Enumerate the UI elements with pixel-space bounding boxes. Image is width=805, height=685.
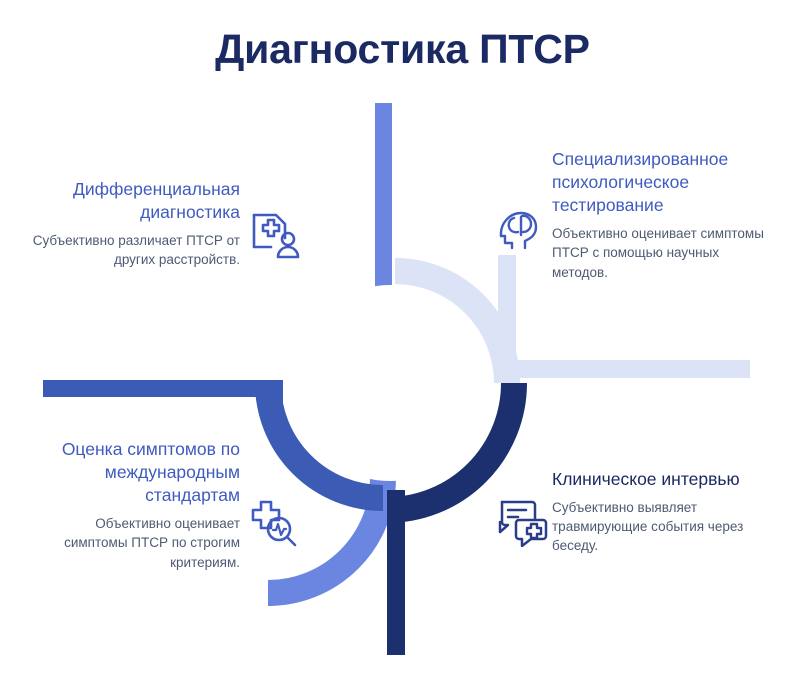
head-brain-icon — [497, 206, 543, 252]
connector-bottom-left-line — [43, 380, 283, 397]
quadrant-clinical-interview: Клиническое интервью Субъективно выявляе… — [552, 468, 764, 556]
cross-pulse-magnifier-icon — [248, 497, 302, 549]
chat-bubbles-cross-icon — [497, 497, 549, 547]
quadrant-body: Субъективно различает ПТСР от других рас… — [28, 231, 240, 269]
quadrant-international-standards: Оценка симптомов по международным станда… — [52, 438, 240, 572]
quadrant-heading: Клиническое интервью — [552, 468, 764, 491]
infographic-canvas: Диагностика ПТСР — [0, 0, 805, 685]
connector-bottom-left-joint — [266, 380, 283, 420]
quadrant-specialized-testing: Специализированное психологическое тести… — [552, 148, 767, 282]
quadrant-body: Объективно оценивает симптомы ПТСР по ст… — [52, 514, 240, 571]
quadrant-heading: Оценка симптомов по международным станда… — [52, 438, 240, 507]
document-cross-person-icon — [248, 211, 302, 261]
connector-bottom-right-stem — [387, 490, 405, 655]
connector-top-left-stem — [375, 103, 392, 293]
quadrant-differential-diagnosis: Дифференциальная диагностика Субъективно… — [28, 178, 240, 270]
quadrant-heading: Специализированное психологическое тести… — [552, 148, 767, 217]
quadrant-heading: Дифференциальная диагностика — [28, 178, 240, 224]
quadrant-body: Субъективно выявляет травмирующие событи… — [552, 498, 764, 555]
cycle-diagram — [0, 0, 805, 685]
quadrant-body: Объективно оценивает симптомы ПТСР с пом… — [552, 224, 767, 281]
connector-top-right-line — [500, 360, 750, 378]
ring-inner-hole — [292, 285, 488, 481]
